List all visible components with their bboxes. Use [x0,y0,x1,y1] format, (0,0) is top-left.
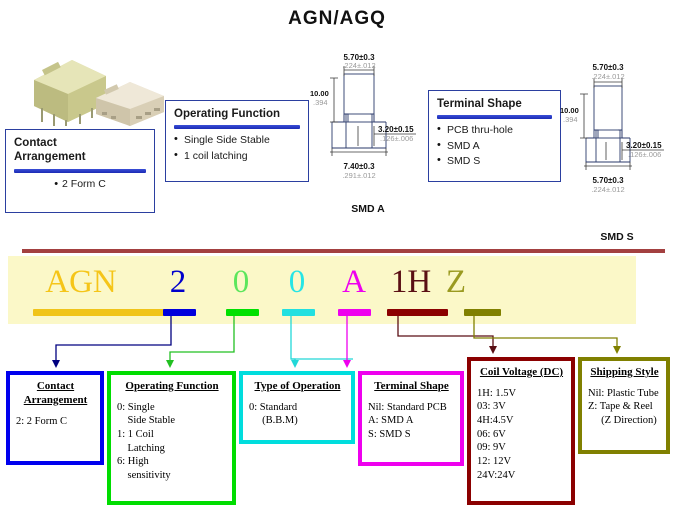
part-number-banner: AGN 2 0 0 A 1H Z [8,256,636,324]
pn-underline-type [282,309,315,316]
list-item: 1 coil latching [174,149,300,164]
legend-line: 12: 12V [477,455,566,469]
legend-box-terminal-shape: Terminal Shape Nil: Standard PCB A: SMD … [358,371,464,466]
legend-box-contact-arrangement: Contact Arrangement 2: 2 Form C [6,371,104,465]
feature-divider-rule [437,115,552,119]
feature-box-operating-function: Operating Function Single Side Stable 1 … [165,100,309,182]
legend-box-shipping-style: Shipping Style Nil: Plastic Tube Z: Tape… [578,357,670,454]
dim-left-mm: 10.00 [310,89,329,98]
page-title: AGN/AGQ [0,8,674,30]
legend-line: 1: 1 Coil [117,428,227,442]
dimension-caption-smd-a: SMD A [308,203,428,215]
pn-underline-shipping [464,309,501,316]
legend-line: Nil: Plastic Tube [588,387,661,401]
pn-underline-coilvoltage [387,309,448,316]
dimension-drawing-smd-a: 5.70±0.3 .224±.012 10.00 .394 3.20±0.15 … [308,48,428,198]
legend-line: (Z Direction) [588,414,661,428]
legend-line: 6: High [117,455,227,469]
feature-box-contact-arrangement: Contact Arrangement 2 Form C [5,129,155,213]
legend-title-terminal-shape: Terminal Shape [368,380,455,394]
pn-segment-coilvoltage: 1H [385,266,437,299]
feature-title-operating-function: Operating Function [174,107,300,121]
dimension-drawing-smd-s: 5.70±0.3 .224±.012 10.00 .394 3.20±0.15 … [560,58,674,213]
legend-title-coil-voltage: Coil Voltage (DC) [477,366,566,380]
list-item: SMD S [437,154,552,169]
feature-divider-rule [14,169,146,173]
dim-right-mm: 3.20±0.15 [626,141,662,150]
legend-line: Latching [117,442,227,456]
legend-line: (B.B.M) [249,414,346,428]
pn-segment-terminal: A [337,266,371,299]
pn-underline-opfunc [226,309,259,316]
legend-line: 0: Standard [249,401,346,415]
feature-divider-rule [174,125,300,129]
dim-top-in: .224±.012 [591,72,624,81]
dim-right-in: .126±.006 [380,134,413,143]
legend-title-operating-function: Operating Function [117,380,227,394]
feature-box-terminal-shape: Terminal Shape PCB thru-hole SMD A SMD S [428,90,561,182]
list-item: Single Side Stable [174,133,300,148]
dim-left-in: .394 [563,115,578,124]
legend-line: Nil: Standard PCB [368,401,455,415]
legend-line: Side Stable [117,414,227,428]
relay-photo-smd [92,76,170,130]
dim-top-in: .224±.012 [342,61,375,70]
pn-segment-shipping: Z [440,266,472,299]
pn-underline-terminal [338,309,371,316]
legend-line: Z: Tape & Reel [588,400,661,414]
dim-top-mm: 5.70±0.3 [592,63,624,72]
dimension-caption-smd-s: SMD S [560,231,674,243]
pn-segment-type: 0 [280,266,314,299]
legend-title-shipping-style: Shipping Style [588,366,661,380]
pn-segment-opfunc: 0 [224,266,258,299]
legend-box-type-of-operation: Type of Operation 0: Standard (B.B.M) [239,371,355,444]
legend-line: 03: 3V [477,400,566,414]
dim-right-mm: 3.20±0.15 [378,125,414,134]
legend-line: 4H:4.5V [477,414,566,428]
dim-left-in: .394 [313,98,328,107]
feature-list-terminal-shape: PCB thru-hole SMD A SMD S [437,123,552,169]
list-item: PCB thru-hole [437,123,552,138]
list-item: 2 Form C [14,177,146,193]
legend-line: 24V:24V [477,469,566,483]
legend-line: sensitivity [117,469,227,483]
pn-underline-contact [163,309,196,316]
dim-bottom-mm: 7.40±0.3 [343,162,375,171]
legend-box-operating-function: Operating Function 0: Single Side Stable… [107,371,236,505]
feature-list-contact-arrangement: 2 Form C [14,177,146,193]
pn-segment-series: AGN [26,266,136,299]
dim-bottom-in: .224±.012 [591,185,624,194]
dim-bottom-mm: 5.70±0.3 [592,176,624,185]
legend-title-type-of-operation: Type of Operation [249,380,346,394]
legend-box-coil-voltage: Coil Voltage (DC) 1H: 1.5V 03: 3V 4H:4.5… [467,357,575,505]
legend-line: 09: 9V [477,441,566,455]
feature-title-terminal-shape: Terminal Shape [437,97,552,111]
feature-list-operating-function: Single Side Stable 1 coil latching [174,133,300,163]
legend-line: S: SMD S [368,428,455,442]
legend-line: 2: 2 Form C [16,415,95,429]
legend-title-contact-arrangement: Contact Arrangement [16,380,95,408]
pn-segment-contact: 2 [161,266,195,299]
legend-line: 1H: 1.5V [477,387,566,401]
dim-bottom-in: .291±.012 [342,171,375,180]
feature-title-contact-arrangement: Contact Arrangement [14,136,146,165]
pn-underline-series [33,309,181,316]
red-divider-line [22,249,665,253]
list-item: SMD A [437,139,552,154]
dim-left-mm: 10.00 [560,106,579,115]
dim-right-in: .126±.006 [628,150,661,159]
legend-line: 0: Single [117,401,227,415]
legend-line: A: SMD A [368,414,455,428]
legend-line: 06: 6V [477,428,566,442]
